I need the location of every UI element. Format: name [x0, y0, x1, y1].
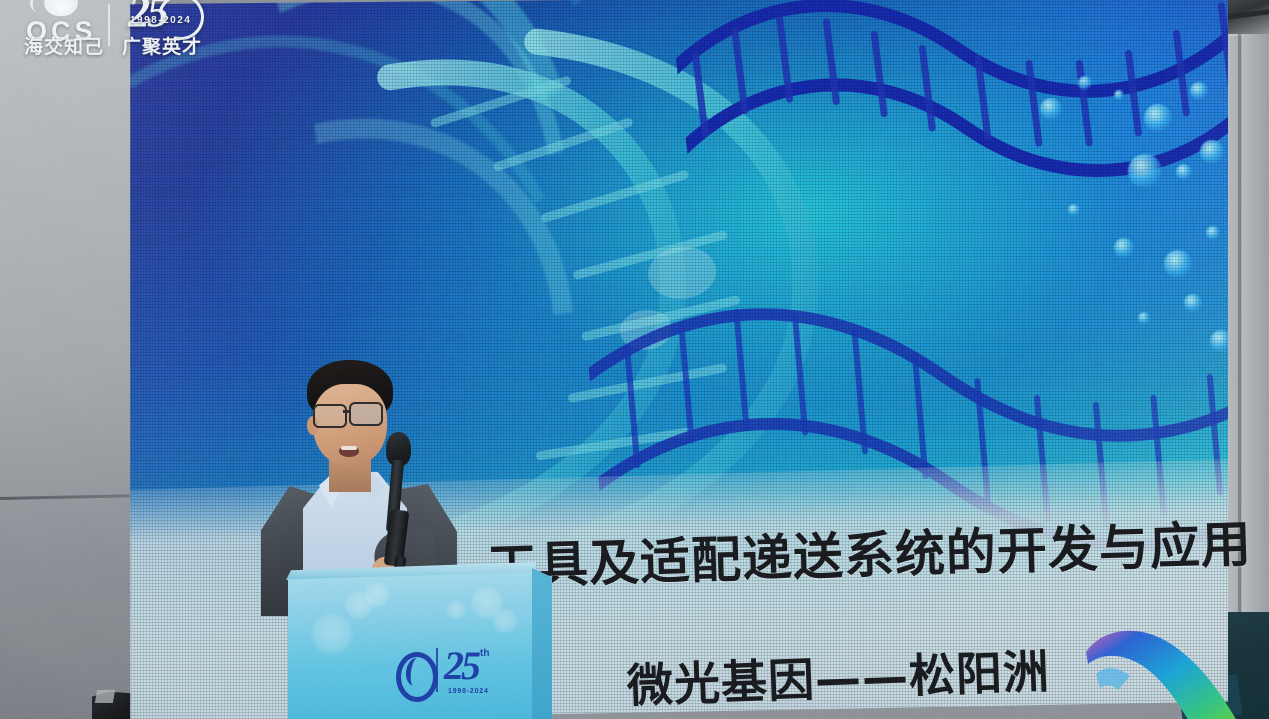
bokeh-dot [1078, 76, 1092, 90]
conference-photo-scene: 工具及适配递送系统的开发与应用 微光基因——松阳洲 [0, 0, 1269, 719]
bokeh-dot [1068, 204, 1080, 216]
event-anniversary-years: 1998-2024 [130, 15, 191, 26]
bokeh-dot [1114, 238, 1134, 258]
bokeh-dot [1184, 294, 1202, 312]
foreground-object-highlight [95, 690, 115, 703]
podium-pattern-flower [446, 600, 466, 620]
event-logo-divider [108, 4, 110, 46]
bokeh-dot [1114, 90, 1124, 100]
bokeh-dot [1164, 250, 1192, 278]
event-tagline-right: 广聚英才 [122, 32, 202, 59]
left-wall [0, 0, 136, 719]
bokeh-dot [1138, 312, 1150, 324]
podium-anniversary-years: 1998-2024 [448, 688, 489, 695]
podium: 25 th 1998-2024 [286, 556, 552, 719]
podium-logo: 25 th 1998-2024 [386, 644, 496, 706]
bokeh-dot [1206, 226, 1220, 240]
eyeglasses-icon [349, 402, 383, 426]
right-pillar-edge [1238, 30, 1241, 690]
bokeh-dot [1144, 104, 1172, 132]
podium-anniversary-superscript: th [480, 648, 489, 659]
bokeh-dot [1128, 154, 1162, 188]
bokeh-dot [1190, 82, 1208, 100]
event-logo: OCS 25 1998-2024 海交知己 广聚英才 [16, 2, 234, 60]
podium-pattern-flower [492, 608, 518, 634]
speaker-teeth [341, 446, 357, 450]
podium-side-panel [532, 568, 552, 719]
bokeh-dot [1176, 164, 1192, 180]
bokeh-dot [1210, 330, 1228, 352]
podium-logo-divider [436, 648, 438, 692]
podium-pattern-flower [364, 582, 390, 608]
event-tagline-left: 海交知己 [24, 32, 104, 59]
podium-anniversary-number: 25 [444, 642, 478, 689]
podium-pattern-flower [310, 612, 354, 656]
eyeglasses-icon [313, 404, 347, 428]
bokeh-dot [1040, 98, 1062, 120]
gradient-swoosh-graphic [1078, 612, 1269, 719]
ocs-swan-mark-icon [44, 0, 78, 16]
eyeglasses-bridge [343, 410, 350, 413]
bokeh-dot [1200, 140, 1224, 164]
